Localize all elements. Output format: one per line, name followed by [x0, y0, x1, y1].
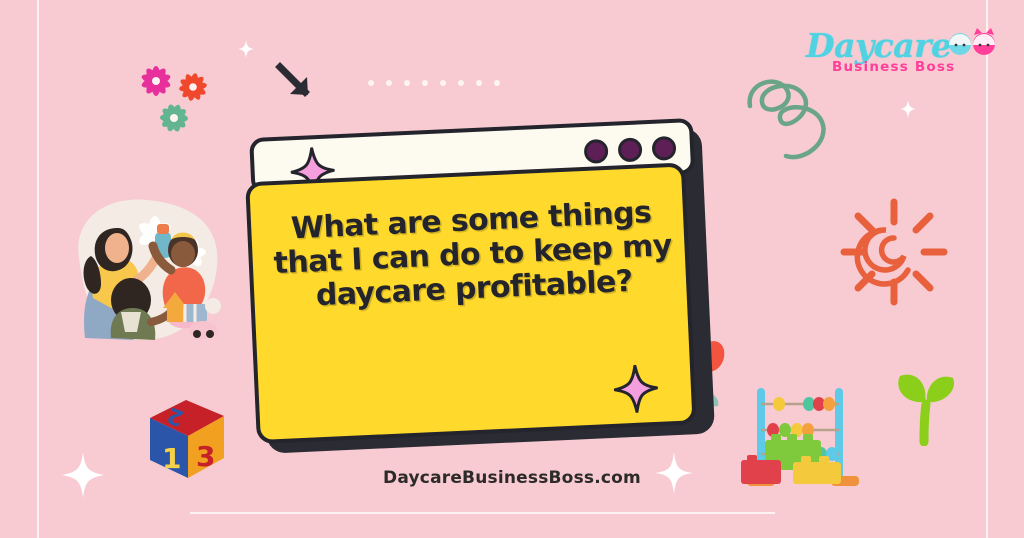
frame-line-left [37, 0, 39, 538]
green-squiggle-icon [742, 58, 847, 168]
window-dot-1[interactable] [584, 139, 609, 164]
window-screen: What are some things that I can do to ke… [245, 162, 696, 444]
caregiver-with-children-illustration [55, 188, 235, 353]
dot [476, 80, 482, 86]
dot [404, 80, 410, 86]
sun-spiral-doodle-icon [838, 196, 950, 308]
page-title: What are some things that I can do to ke… [251, 194, 695, 316]
three-flowers-icon [126, 55, 226, 145]
browser-window[interactable]: What are some things that I can do to ke… [243, 118, 709, 450]
pink-sparkle-icon [613, 364, 659, 414]
dot [458, 80, 464, 86]
logo-character-faces [946, 28, 998, 58]
window-dot-3[interactable] [652, 136, 677, 161]
frame-line-bottom [190, 512, 775, 514]
logo-subtitle: Business Boss [832, 59, 955, 75]
poster-canvas: Daycare Business Boss [0, 0, 1024, 538]
dot [368, 80, 374, 86]
site-url-caption: DaycareBusinessBoss.com [0, 468, 1024, 488]
window-traffic-lights[interactable] [584, 136, 677, 164]
white-sparkle-small-icon [238, 40, 254, 58]
dot [386, 80, 392, 86]
window-dot-2[interactable] [618, 137, 643, 162]
dot [440, 80, 446, 86]
frame-line-right [986, 0, 988, 538]
decorative-dots-row [368, 80, 500, 86]
green-sprout-icon [888, 356, 968, 446]
dot [422, 80, 428, 86]
dot [494, 80, 500, 86]
arrow-down-right-icon [275, 62, 315, 104]
white-sparkle-small-icon [900, 100, 916, 118]
